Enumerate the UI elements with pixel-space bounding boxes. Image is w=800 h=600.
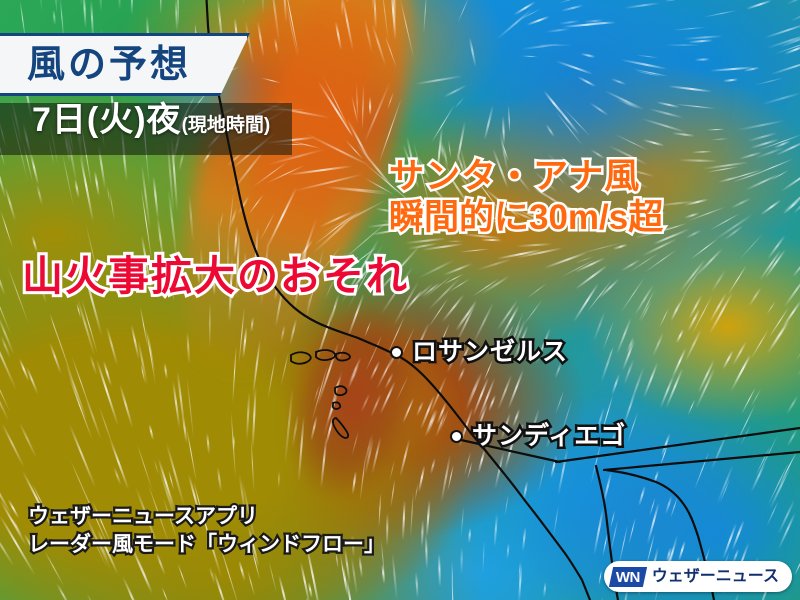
app-promo-line2: レーダー風モード「ウィンドフロー」 [28, 531, 385, 559]
wildfire-warning-callout: 山火事拡大のおそれ [22, 256, 409, 297]
weathernews-logo[interactable]: WN ウェザーニュース [604, 561, 792, 592]
forecast-date-bar: 7日(火)夜 (現地時間) [0, 103, 292, 155]
weather-map-screen: 風の予想 7日(火)夜 (現地時間) サンタ・アナ風 瞬間的に30m/s超 山火… [0, 0, 800, 600]
city-marker-san-diego: サンディエゴ [450, 424, 626, 449]
wn-mark-icon: WN [609, 567, 647, 587]
local-time-note: (現地時間) [182, 116, 271, 135]
santa-ana-line1: サンタ・アナ風 [389, 156, 663, 197]
city-dot-icon [450, 430, 463, 443]
logo-text: ウェザーニュース [652, 569, 779, 585]
city-label: ロサンゼルス [412, 340, 568, 365]
title-banner: 風の予想 [0, 33, 250, 96]
city-label: サンディエゴ [472, 424, 626, 449]
city-marker-los-angeles: ロサンゼルス [390, 340, 568, 365]
city-dot-icon [390, 346, 403, 359]
santa-ana-line2: 瞬間的に30m/s超 [389, 197, 663, 238]
wn-mark-text: WN [616, 569, 640, 584]
santa-ana-callout: サンタ・アナ風 瞬間的に30m/s超 [389, 156, 663, 239]
app-promo-line1: ウェザーニュースアプリ [28, 503, 385, 531]
app-promo-note: ウェザーニュースアプリ レーダー風モード「ウィンドフロー」 [28, 503, 385, 559]
forecast-date: 7日(火)夜 [32, 103, 182, 137]
banner-title: 風の予想 [27, 46, 191, 84]
